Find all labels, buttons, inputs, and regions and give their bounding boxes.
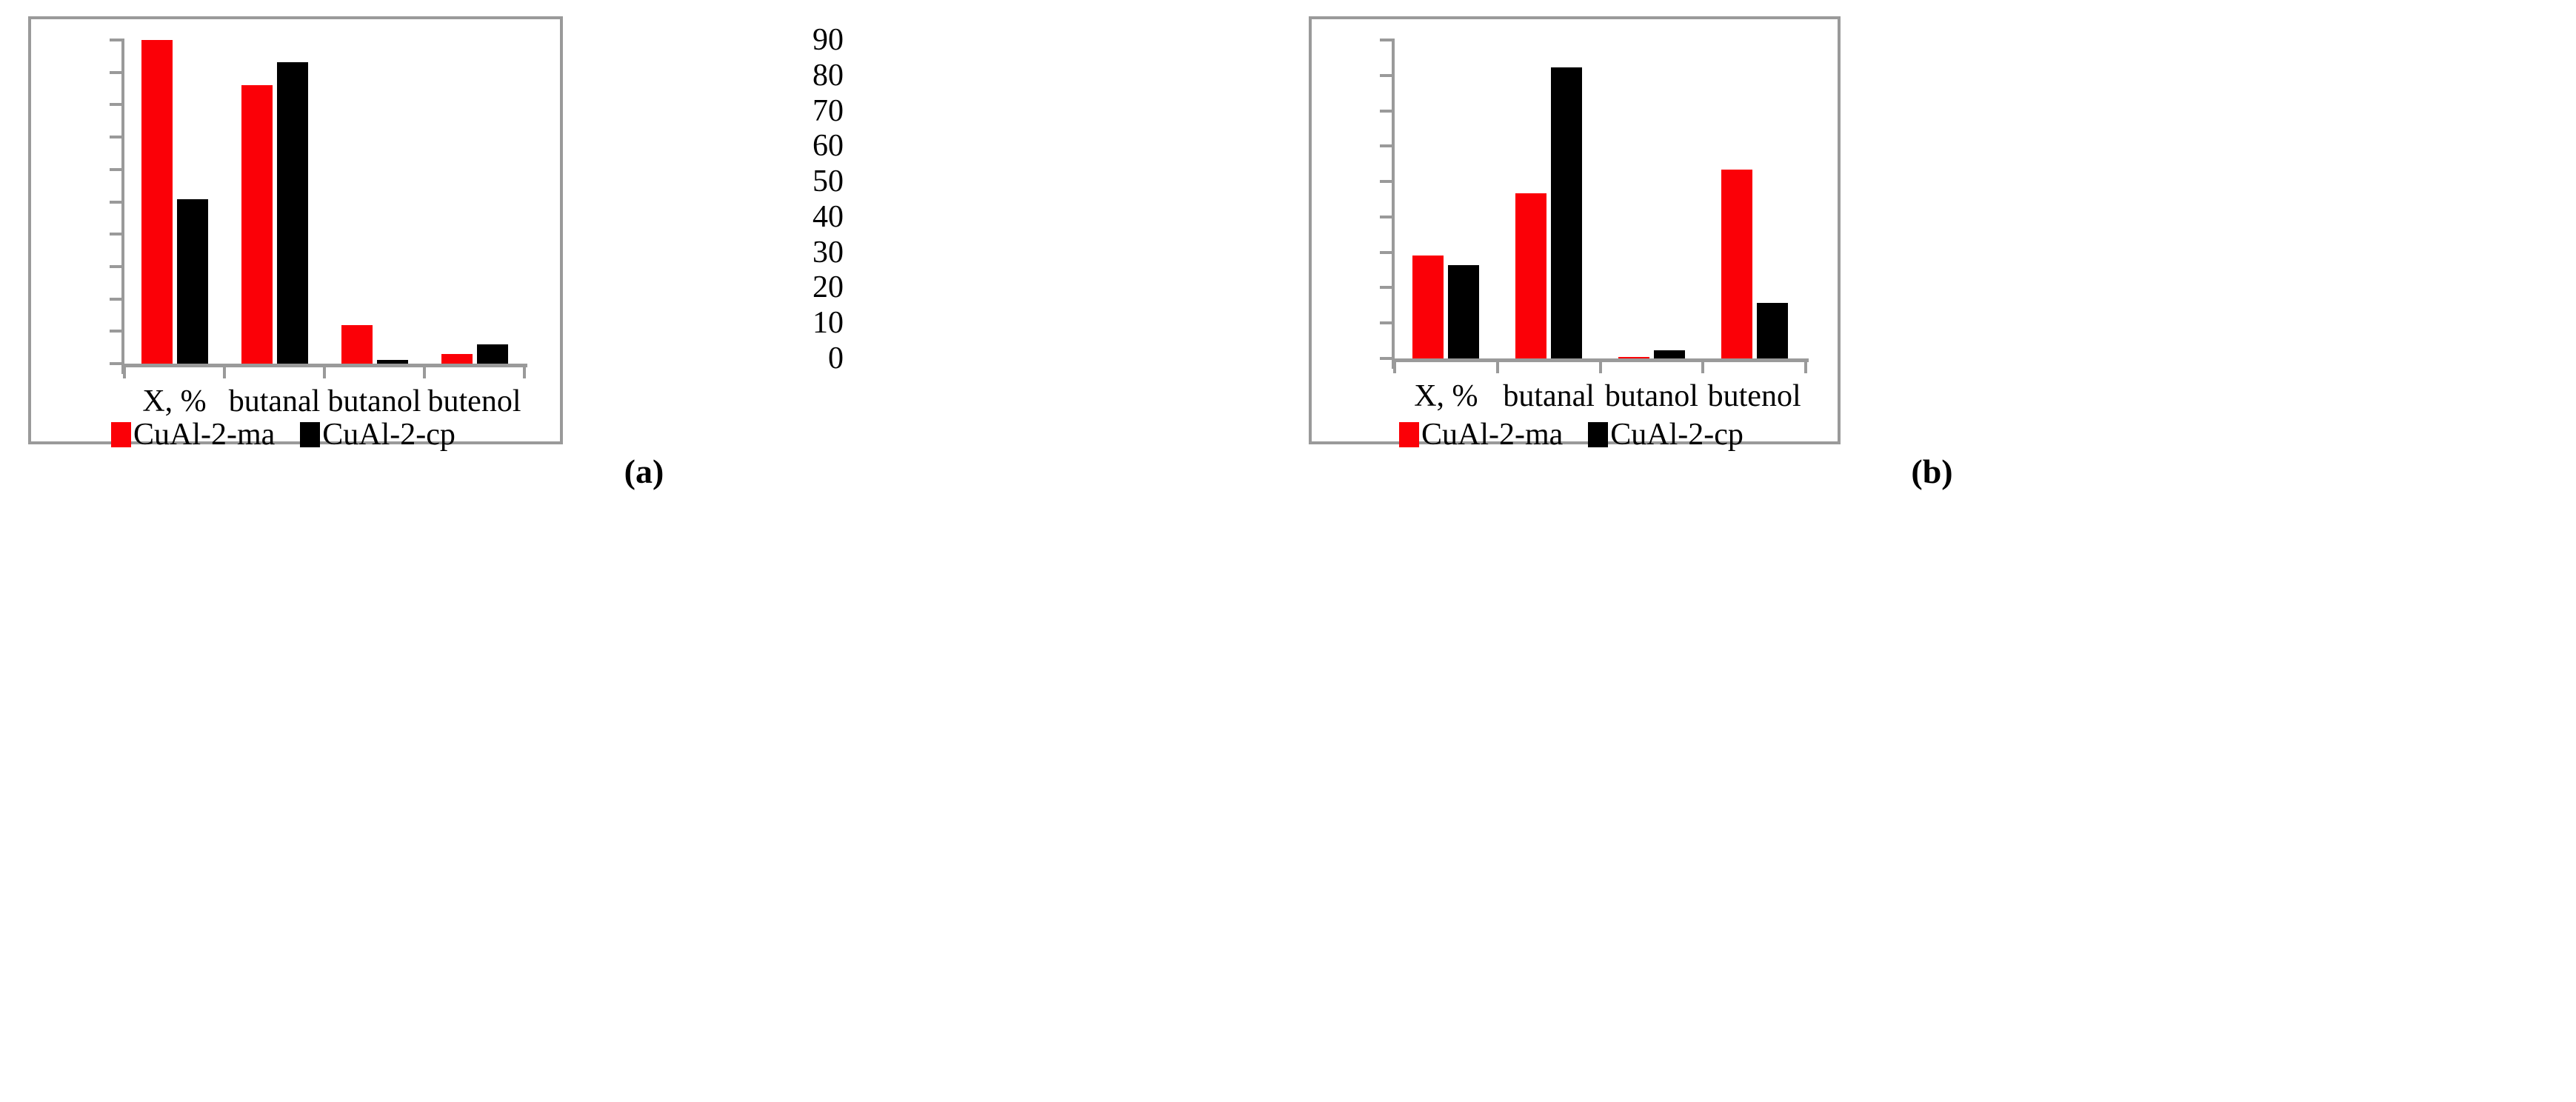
y-axis-tick-label: 40: [812, 201, 844, 233]
bar: [377, 360, 408, 364]
y-axis-line: [1392, 39, 1395, 369]
legend-label: CuAl-2-ma: [1421, 419, 1563, 450]
y-axis-tick: [1380, 74, 1392, 77]
legend-label: CuAl-2-cp: [322, 419, 456, 450]
bar: [441, 354, 473, 364]
bar: [141, 40, 173, 364]
x-axis-tick: [1496, 361, 1499, 373]
y-axis-tick-label: 80: [812, 60, 844, 91]
bar: [277, 62, 308, 364]
chart-panel-a: 0102030405060708090100X, %butanalbutanol…: [0, 0, 1288, 1102]
chart-panel-b: 0102030405060708090X, %butanalbutanolbut…: [1288, 0, 2576, 1102]
x-axis-tick: [1701, 361, 1704, 373]
y-axis-tick: [110, 168, 122, 171]
bar: [1515, 193, 1546, 358]
x-axis-category-label: butenol: [1708, 381, 1801, 412]
y-axis-tick: [110, 362, 122, 365]
y-axis-tick: [110, 103, 122, 106]
chart-frame-a: 0102030405060708090100X, %butanalbutanol…: [28, 16, 563, 444]
x-axis-tick: [423, 366, 426, 378]
x-axis-tick: [1393, 361, 1396, 373]
y-axis-tick-label: 20: [812, 272, 844, 303]
x-axis-category-label: butanal: [229, 386, 321, 417]
x-axis-category-label: X, %: [1414, 381, 1478, 412]
x-axis-category-label: butanol: [1605, 381, 1698, 412]
x-axis-tick: [1599, 361, 1602, 373]
y-axis-tick: [110, 136, 122, 138]
y-axis-tick: [110, 39, 122, 41]
panel-caption-b: (b): [1288, 452, 2576, 491]
bar: [1448, 265, 1479, 358]
y-axis-tick: [1380, 321, 1392, 324]
bar: [1654, 350, 1685, 358]
y-axis-tick-label: 10: [812, 307, 844, 338]
x-axis-tick: [123, 366, 126, 378]
y-axis-tick: [110, 201, 122, 204]
legend-swatch-icon: [1588, 422, 1608, 447]
bar: [1412, 256, 1444, 358]
y-axis-tick: [1380, 110, 1392, 113]
legend-label: CuAl-2-cp: [1610, 419, 1744, 450]
x-axis-tick: [523, 366, 526, 378]
legend-entry[interactable]: CuAl-2-ma: [1399, 419, 1563, 450]
panel-caption-a: (a): [0, 452, 1288, 491]
bar: [1618, 357, 1649, 358]
legend-entry[interactable]: CuAl-2-cp: [1588, 419, 1744, 450]
y-axis-tick-label: 0: [828, 343, 844, 374]
chart-frame-b: 0102030405060708090X, %butanalbutanolbut…: [1309, 16, 1841, 444]
y-axis-tick: [110, 330, 122, 333]
y-axis-tick-label: 30: [812, 237, 844, 268]
chart-legend-b: CuAl-2-maCuAl-2-cp: [1399, 419, 1744, 450]
y-axis-tick: [110, 233, 122, 236]
y-axis-tick: [1380, 39, 1392, 41]
x-axis-tick: [323, 366, 326, 378]
bar: [1757, 303, 1788, 358]
legend-entry[interactable]: CuAl-2-cp: [300, 419, 456, 450]
y-axis-tick: [1380, 286, 1392, 289]
y-axis-tick-label: 50: [812, 166, 844, 197]
bar: [241, 85, 273, 364]
panel-container: 0102030405060708090100X, %butanalbutanol…: [0, 0, 2576, 1102]
y-axis-tick: [110, 71, 122, 74]
y-axis-tick-label: 70: [812, 96, 844, 127]
x-axis-category-label: butanal: [1503, 381, 1595, 412]
bar: [477, 344, 508, 364]
y-axis-tick: [110, 265, 122, 268]
x-axis-category-label: butenol: [428, 386, 521, 417]
x-axis-tick: [1804, 361, 1807, 373]
y-axis-tick-label: 60: [812, 130, 844, 161]
y-axis-tick: [110, 298, 122, 301]
chart-legend-a: CuAl-2-maCuAl-2-cp: [111, 419, 456, 450]
figure-root: 0102030405060708090100X, %butanalbutanol…: [0, 0, 2576, 1102]
bar: [1721, 170, 1752, 358]
bar: [177, 199, 208, 364]
x-axis-category-label: X, %: [142, 386, 206, 417]
legend-entry[interactable]: CuAl-2-ma: [111, 419, 275, 450]
bar: [1551, 67, 1582, 358]
y-axis-tick: [1380, 144, 1392, 147]
legend-label: CuAl-2-ma: [133, 419, 275, 450]
legend-swatch-icon: [111, 422, 131, 447]
y-axis-line: [121, 39, 124, 374]
legend-swatch-icon: [300, 422, 320, 447]
y-axis-tick-label: 90: [812, 24, 844, 56]
y-axis-tick: [1380, 216, 1392, 218]
x-axis-category-label: butanol: [328, 386, 421, 417]
bar: [341, 325, 373, 364]
x-axis-tick: [223, 366, 226, 378]
y-axis-tick: [1380, 251, 1392, 254]
legend-swatch-icon: [1399, 422, 1419, 447]
y-axis-tick: [1380, 180, 1392, 183]
y-axis-tick: [1380, 357, 1392, 360]
